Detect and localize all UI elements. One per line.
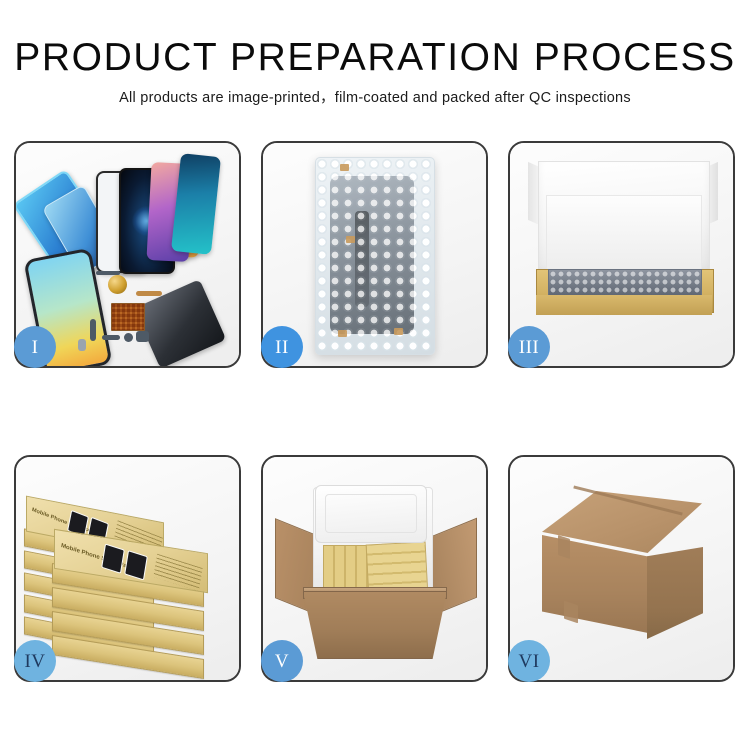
step-badge-2: II: [261, 326, 303, 368]
shipping-carton-icon: [528, 491, 718, 641]
box-spec-lines: [153, 554, 202, 592]
step-numeral: V: [275, 652, 289, 671]
step-numeral: II: [275, 338, 289, 357]
page-subtitle: All products are image-printed，film-coat…: [0, 89, 750, 108]
camera-module-icon: [136, 331, 149, 342]
tray-front-wall-icon: [536, 295, 712, 315]
carton-tape-tab: [564, 601, 578, 624]
box-art-screen-icon: [124, 550, 148, 580]
carton-body-icon: [303, 591, 447, 659]
step-numeral: III: [519, 338, 539, 357]
carton-side-face: [647, 547, 703, 639]
foam-sheet-icon: [546, 195, 702, 271]
process-step-grid: I II: [14, 141, 736, 709]
header: PRODUCT PREPARATION PROCESS All products…: [0, 36, 750, 108]
bubble-wrapped-contents-icon: [548, 269, 702, 297]
step-numeral: VI: [518, 652, 539, 671]
step-badge-3: III: [508, 326, 550, 368]
speaker-icon: [124, 333, 133, 342]
process-step-panel-6: VI: [508, 455, 735, 682]
retail-box-stack: Mobile Phone Spare Parts Mobile Phone Sp…: [24, 483, 236, 665]
vibration-motor-icon: [108, 275, 127, 294]
bubble-wrap-bag-icon: [315, 157, 435, 355]
tape-piece-icon: [346, 236, 355, 243]
step-numeral: I: [32, 338, 39, 357]
step-badge-4: IV: [14, 640, 56, 682]
antenna-flex-icon: [136, 291, 162, 296]
carton-tape-tab: [558, 535, 570, 559]
box-art-screen-icon: [101, 543, 125, 573]
step-badge-5: V: [261, 640, 303, 682]
step-numeral: IV: [24, 652, 45, 671]
flex-cable-icon: [96, 271, 120, 275]
process-step-panel-4: Mobile Phone Spare Parts Mobile Phone Sp…: [14, 455, 241, 682]
tape-piece-icon: [340, 164, 349, 171]
logic-board-icon: [111, 303, 145, 331]
foam-lid-icon: [315, 485, 427, 543]
tape-piece-icon: [394, 328, 403, 335]
process-step-panel-5: V: [261, 455, 488, 682]
bubble-texture-overlay: [316, 158, 434, 354]
flex-cable-icon: [102, 335, 120, 340]
product-preparation-infographic: PRODUCT PREPARATION PROCESS All products…: [0, 0, 750, 750]
process-step-panel-1: I: [14, 141, 241, 368]
sim-tray-icon: [78, 339, 86, 351]
process-step-panel-3: III: [508, 141, 735, 368]
step-badge-6: VI: [508, 640, 550, 682]
page-title: PRODUCT PREPARATION PROCESS: [0, 36, 750, 80]
tape-piece-icon: [338, 330, 347, 337]
flex-cable-icon: [90, 319, 96, 341]
step-badge-1: I: [14, 326, 56, 368]
process-step-panel-2: II: [261, 141, 488, 368]
